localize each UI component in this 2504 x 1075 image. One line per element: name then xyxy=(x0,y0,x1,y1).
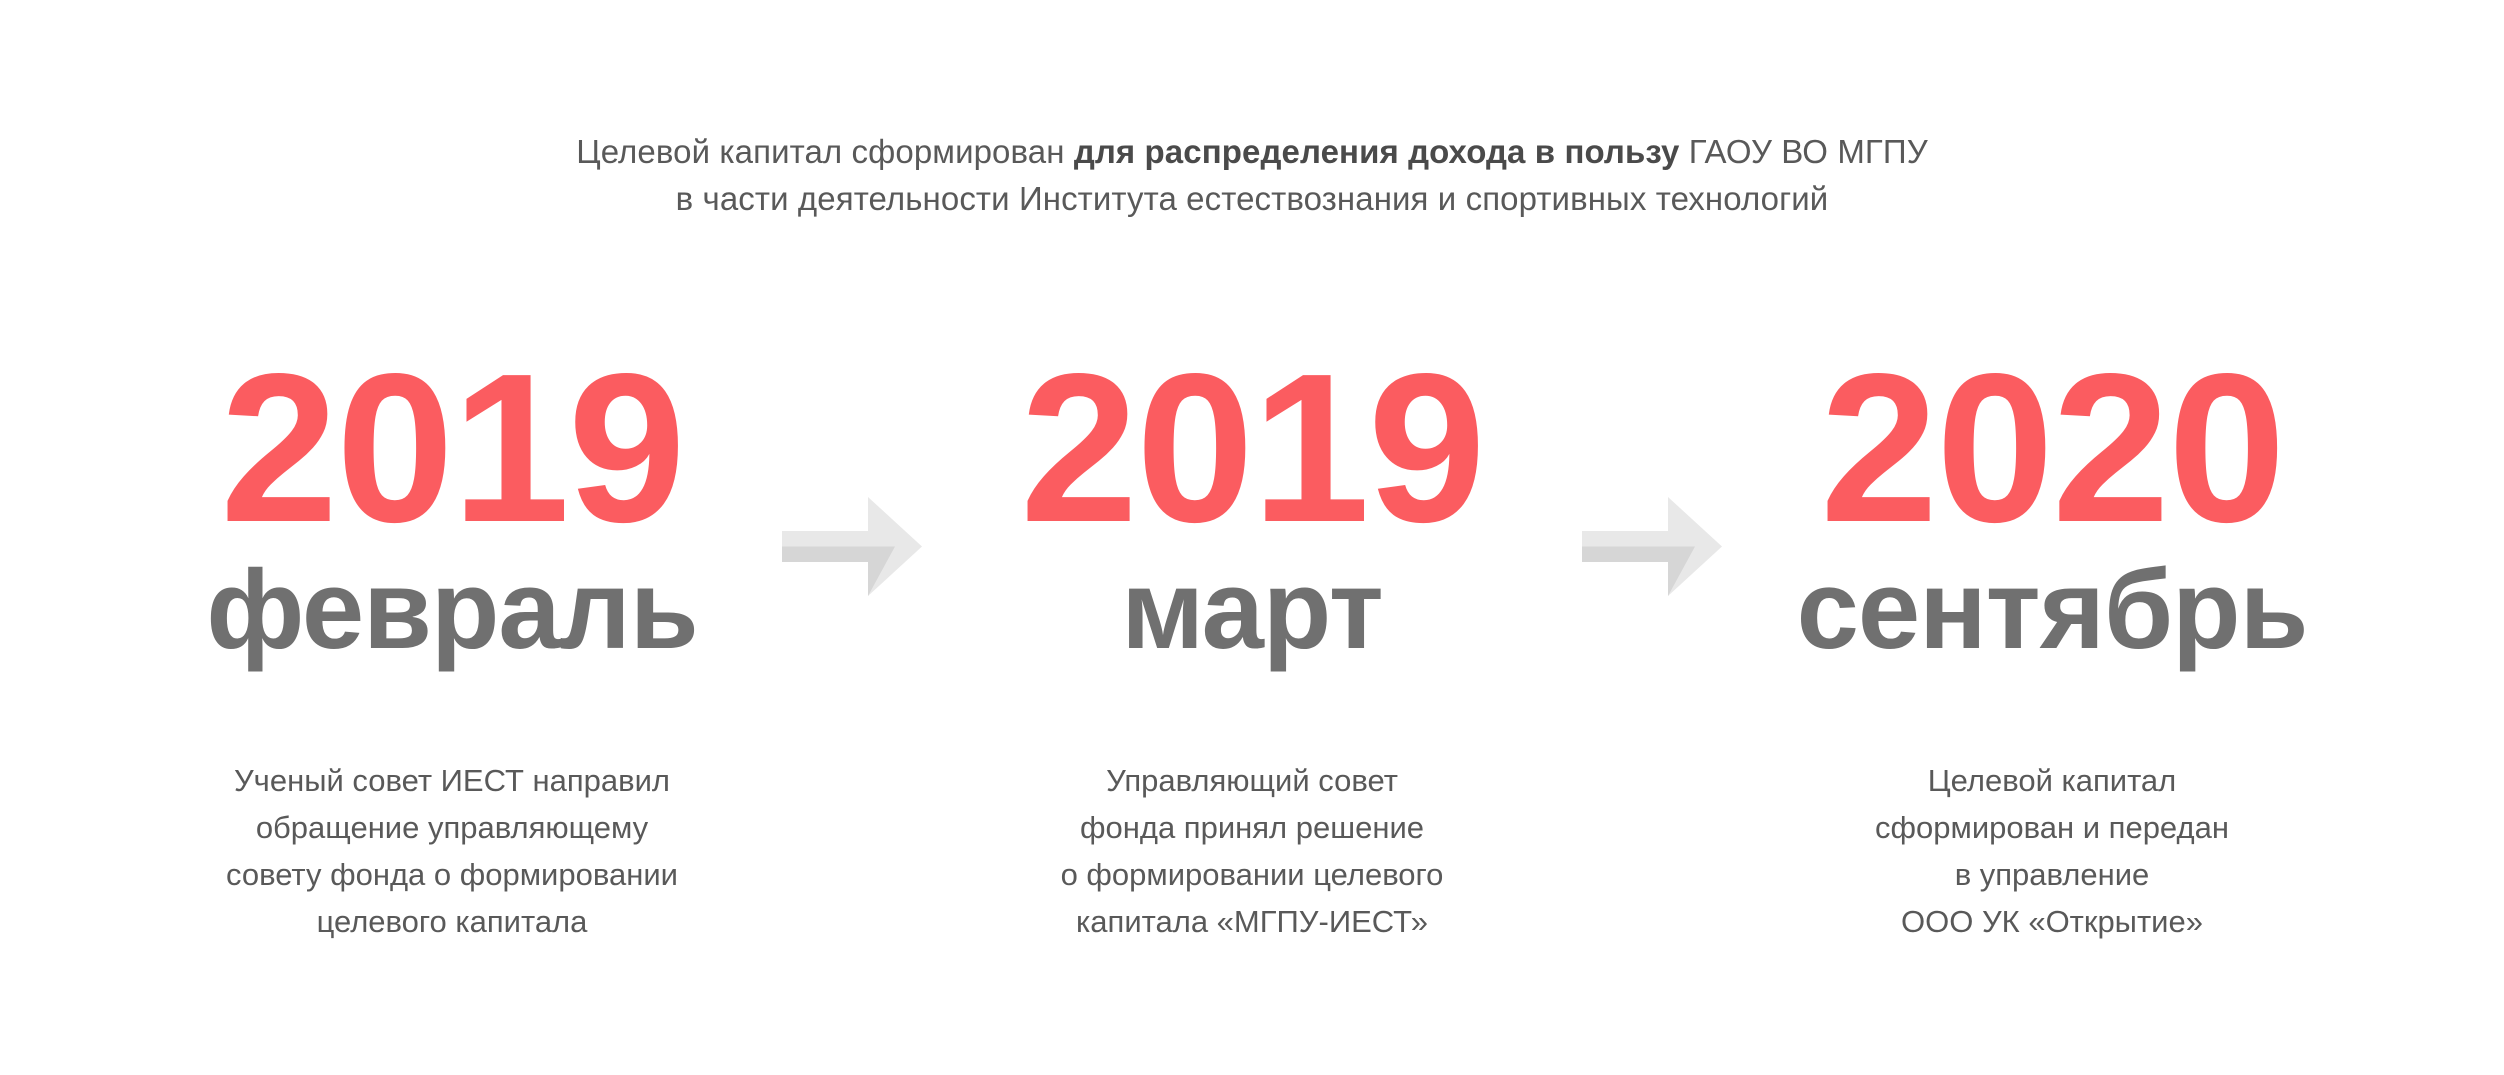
step-2-year: 2019 xyxy=(932,355,1572,545)
step-1-description: Ученый совет ИЕСТ направил обращение упр… xyxy=(132,757,772,945)
arrow-right-icon xyxy=(1582,497,1722,596)
timeline-connector-2 xyxy=(1572,355,1732,356)
header-line-1-prefix: Целевой капитал сформирован xyxy=(576,133,1074,170)
timeline-step-1: 2019 февраль Ученый совет ИЕСТ направил … xyxy=(132,355,772,945)
infographic-canvas: Целевой капитал сформирован для распреде… xyxy=(0,0,2504,1075)
step-1-month: февраль xyxy=(132,551,772,673)
timeline-step-2: 2019 март Управляющий совет фонда принял… xyxy=(932,355,1572,945)
step-2-month: март xyxy=(932,551,1572,673)
arrow-right-icon xyxy=(782,497,922,596)
header-line-1-suffix: ГАОУ ВО МГПУ xyxy=(1680,133,1928,170)
header-line-1-emphasis: для распределения дохода в пользу xyxy=(1074,133,1680,170)
step-2-description: Управляющий совет фонда принял решение о… xyxy=(932,757,1572,945)
header-line-2: в части деятельности Института естествоз… xyxy=(0,175,2504,222)
timeline-connector-1 xyxy=(772,355,932,356)
timeline: 2019 февраль Ученый совет ИЕСТ направил … xyxy=(0,355,2504,945)
step-3-year: 2020 xyxy=(1732,355,2372,545)
page-title: Целевой капитал сформирован для распреде… xyxy=(0,128,2504,222)
header-line-1: Целевой капитал сформирован для распреде… xyxy=(0,128,2504,175)
step-3-month: сентябрь xyxy=(1732,551,2372,673)
step-1-year: 2019 xyxy=(132,355,772,545)
timeline-step-3: 2020 сентябрь Целевой капитал сформирова… xyxy=(1732,355,2372,945)
step-3-description: Целевой капитал сформирован и передан в … xyxy=(1732,757,2372,945)
